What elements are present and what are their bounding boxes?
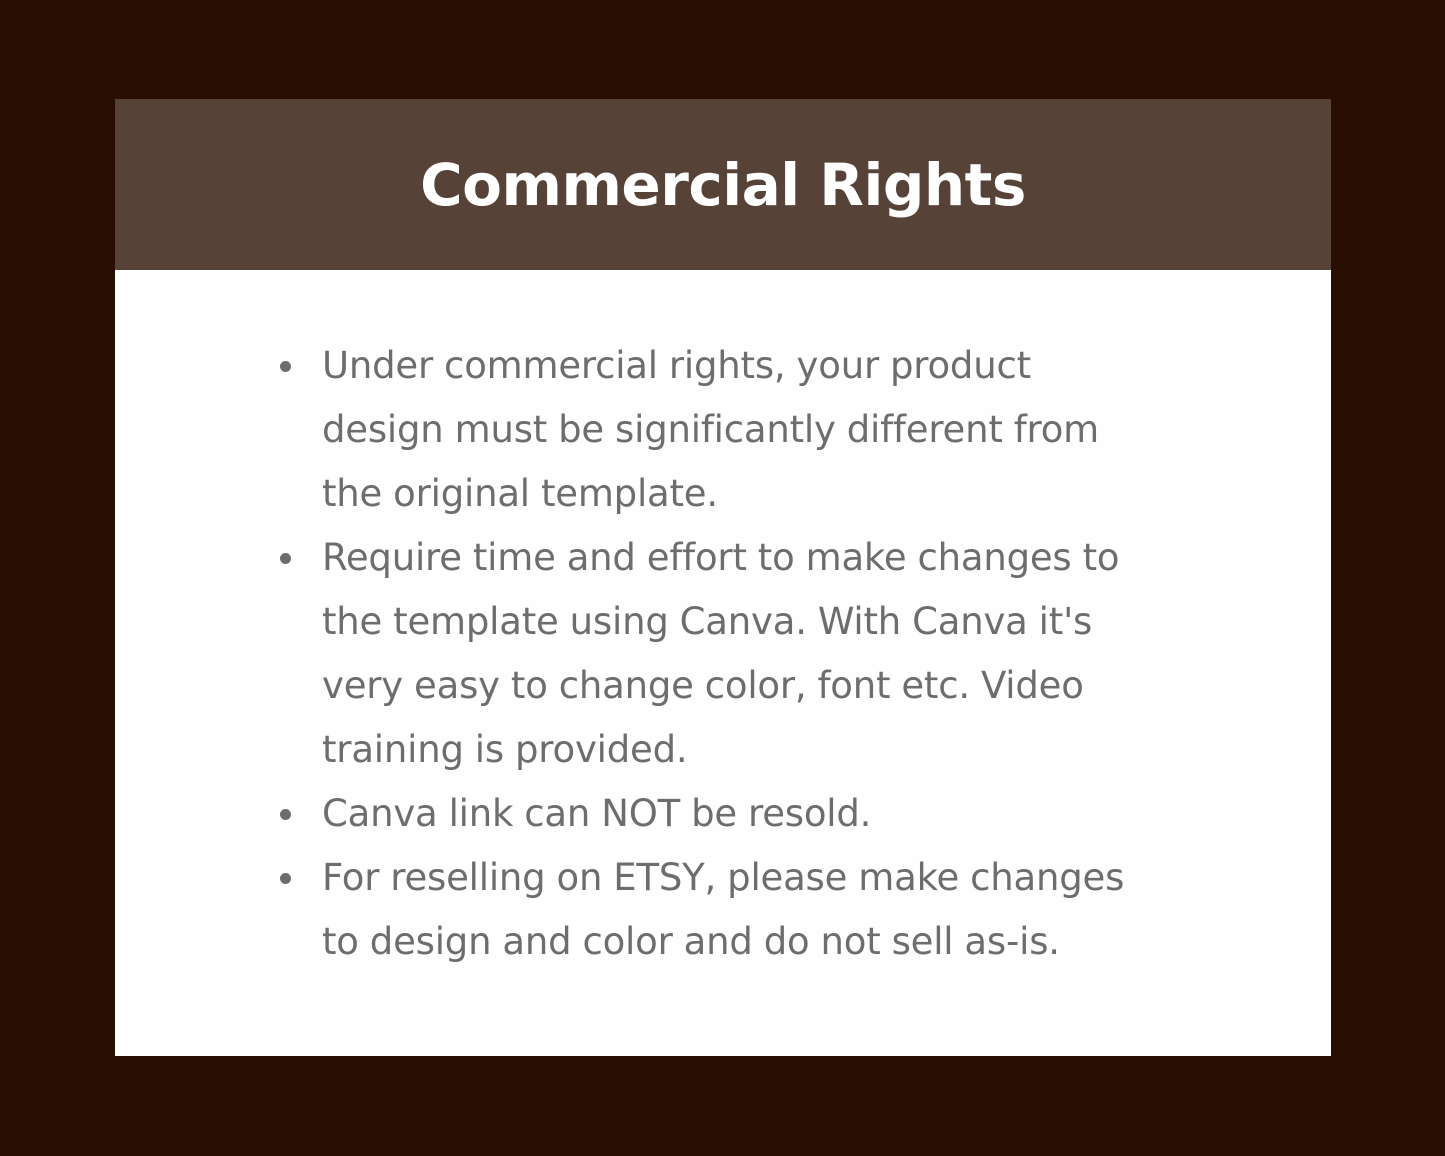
page-title: Commercial Rights (380, 156, 1066, 214)
card-header: Commercial Rights (115, 99, 1331, 270)
list-item: Require time and effort to make changes … (280, 526, 1160, 782)
card-body: Under commercial rights, your product de… (115, 270, 1331, 1056)
list-item: Canva link can NOT be resold. (280, 782, 1160, 846)
commercial-rights-card: Commercial Rights Under commercial right… (115, 99, 1331, 1056)
slide-canvas: Commercial Rights Under commercial right… (0, 0, 1445, 1156)
list-item: Under commercial rights, your product de… (280, 334, 1160, 526)
bullet-list: Under commercial rights, your product de… (280, 334, 1160, 974)
list-item: For reselling on ETSY, please make chang… (280, 846, 1160, 974)
